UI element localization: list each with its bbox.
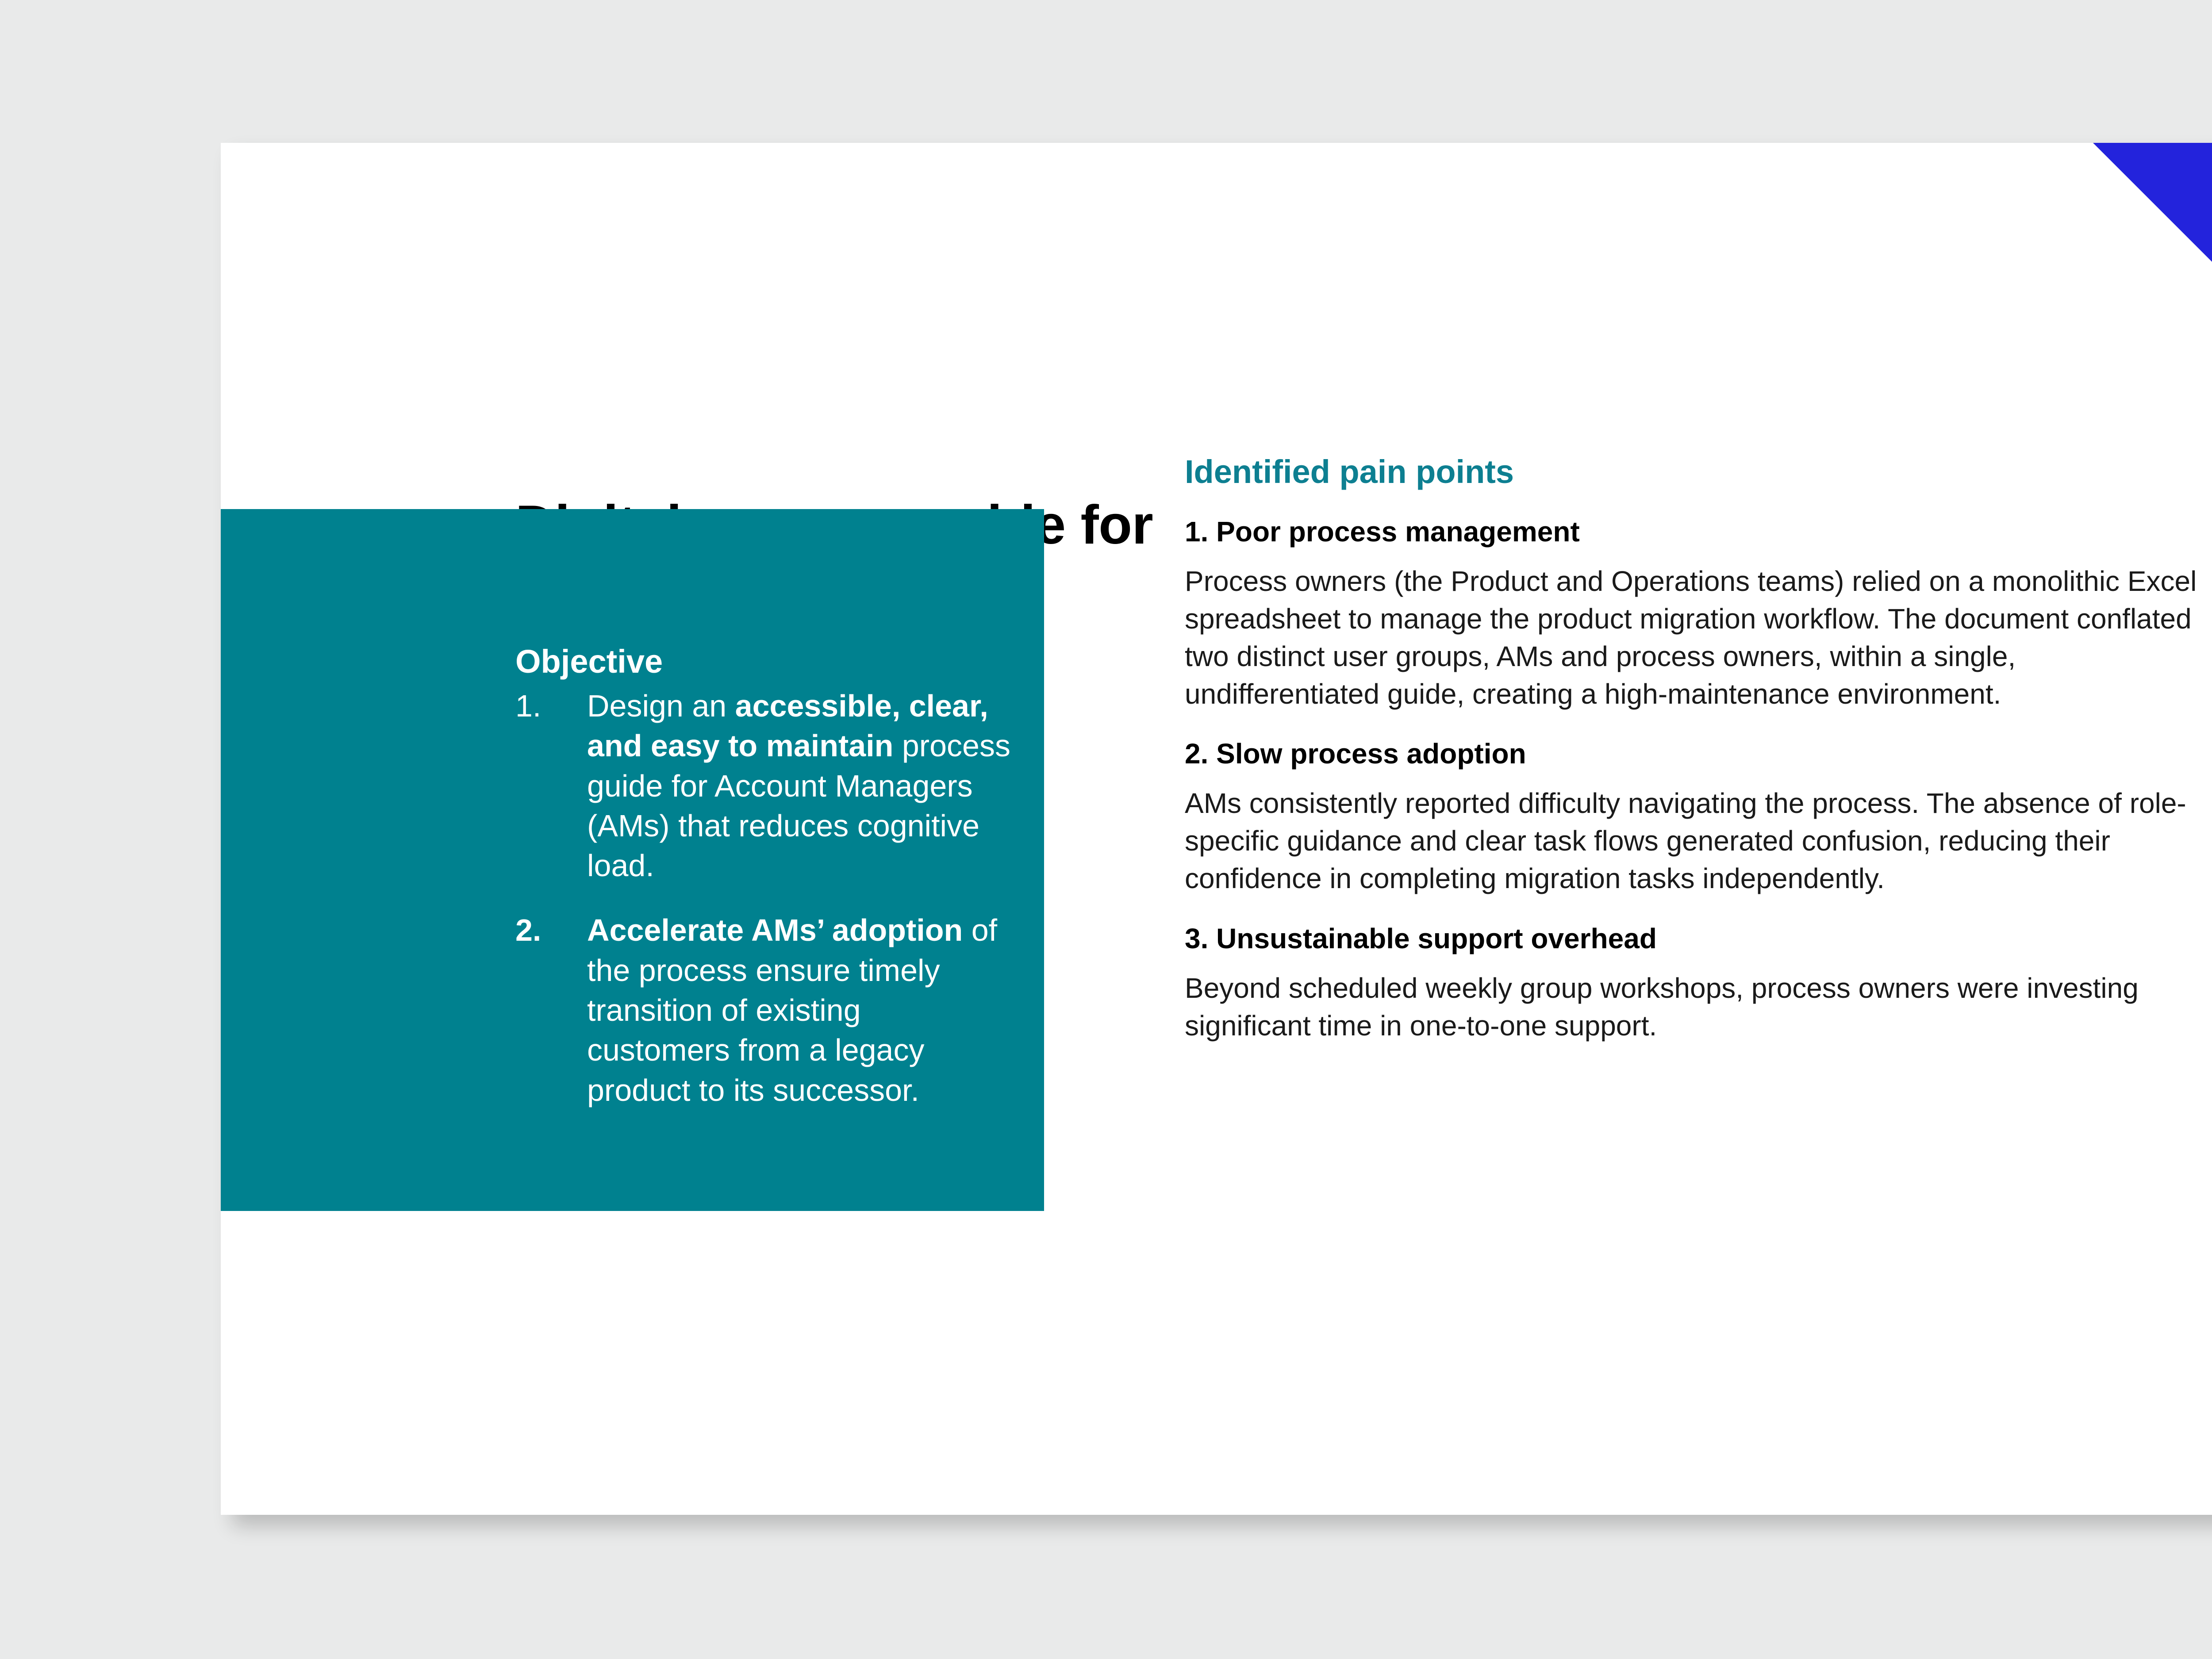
pain-points-heading: Identified pain points: [1185, 452, 2202, 492]
corner-accent-triangle: [2093, 143, 2212, 377]
pain-points-section: Identified pain points 1. Poor process m…: [1185, 452, 2202, 1068]
pain-point-title: 1. Poor process management: [1185, 514, 2202, 549]
pain-point-item: 2. Slow process adoption AMs consistentl…: [1185, 736, 2202, 897]
objective-panel: Objective 1. Design an accessible, clear…: [221, 509, 1044, 1211]
list-item-text: Design an accessible, clear, and easy to…: [587, 686, 1011, 885]
list-item-text-before: Design an: [587, 689, 735, 723]
pain-point-item: 1. Poor process management Process owner…: [1185, 514, 2202, 713]
pain-point-title: 3. Unsustainable support overhead: [1185, 921, 2202, 956]
list-item-text-emphasis: Accelerate AMs’ adoption: [587, 913, 963, 947]
list-item-marker: 2.: [515, 910, 587, 950]
pain-point-body: Process owners (the Product and Operatio…: [1185, 563, 2202, 713]
list-item-marker: 1.: [515, 686, 587, 726]
list-item: 2. Accelerate AMs’ adoption of the proce…: [515, 910, 1011, 1110]
list-item-text: Accelerate AMs’ adoption of the process …: [587, 910, 1011, 1110]
pain-point-body: AMs consistently reported difficulty nav…: [1185, 785, 2202, 897]
pain-point-body: Beyond scheduled weekly group workshops,…: [1185, 969, 2202, 1045]
slide-card: 1 Digital process guide for Account Mana…: [221, 143, 2212, 1515]
triangle-shape: [2093, 143, 2212, 377]
pain-point-title: 2. Slow process adoption: [1185, 736, 2202, 771]
objective-heading: Objective: [515, 642, 663, 682]
list-item: 1. Design an accessible, clear, and easy…: [515, 686, 1011, 885]
pain-point-item: 3. Unsustainable support overhead Beyond…: [1185, 921, 2202, 1045]
objective-list: 1. Design an accessible, clear, and easy…: [515, 686, 1011, 1135]
